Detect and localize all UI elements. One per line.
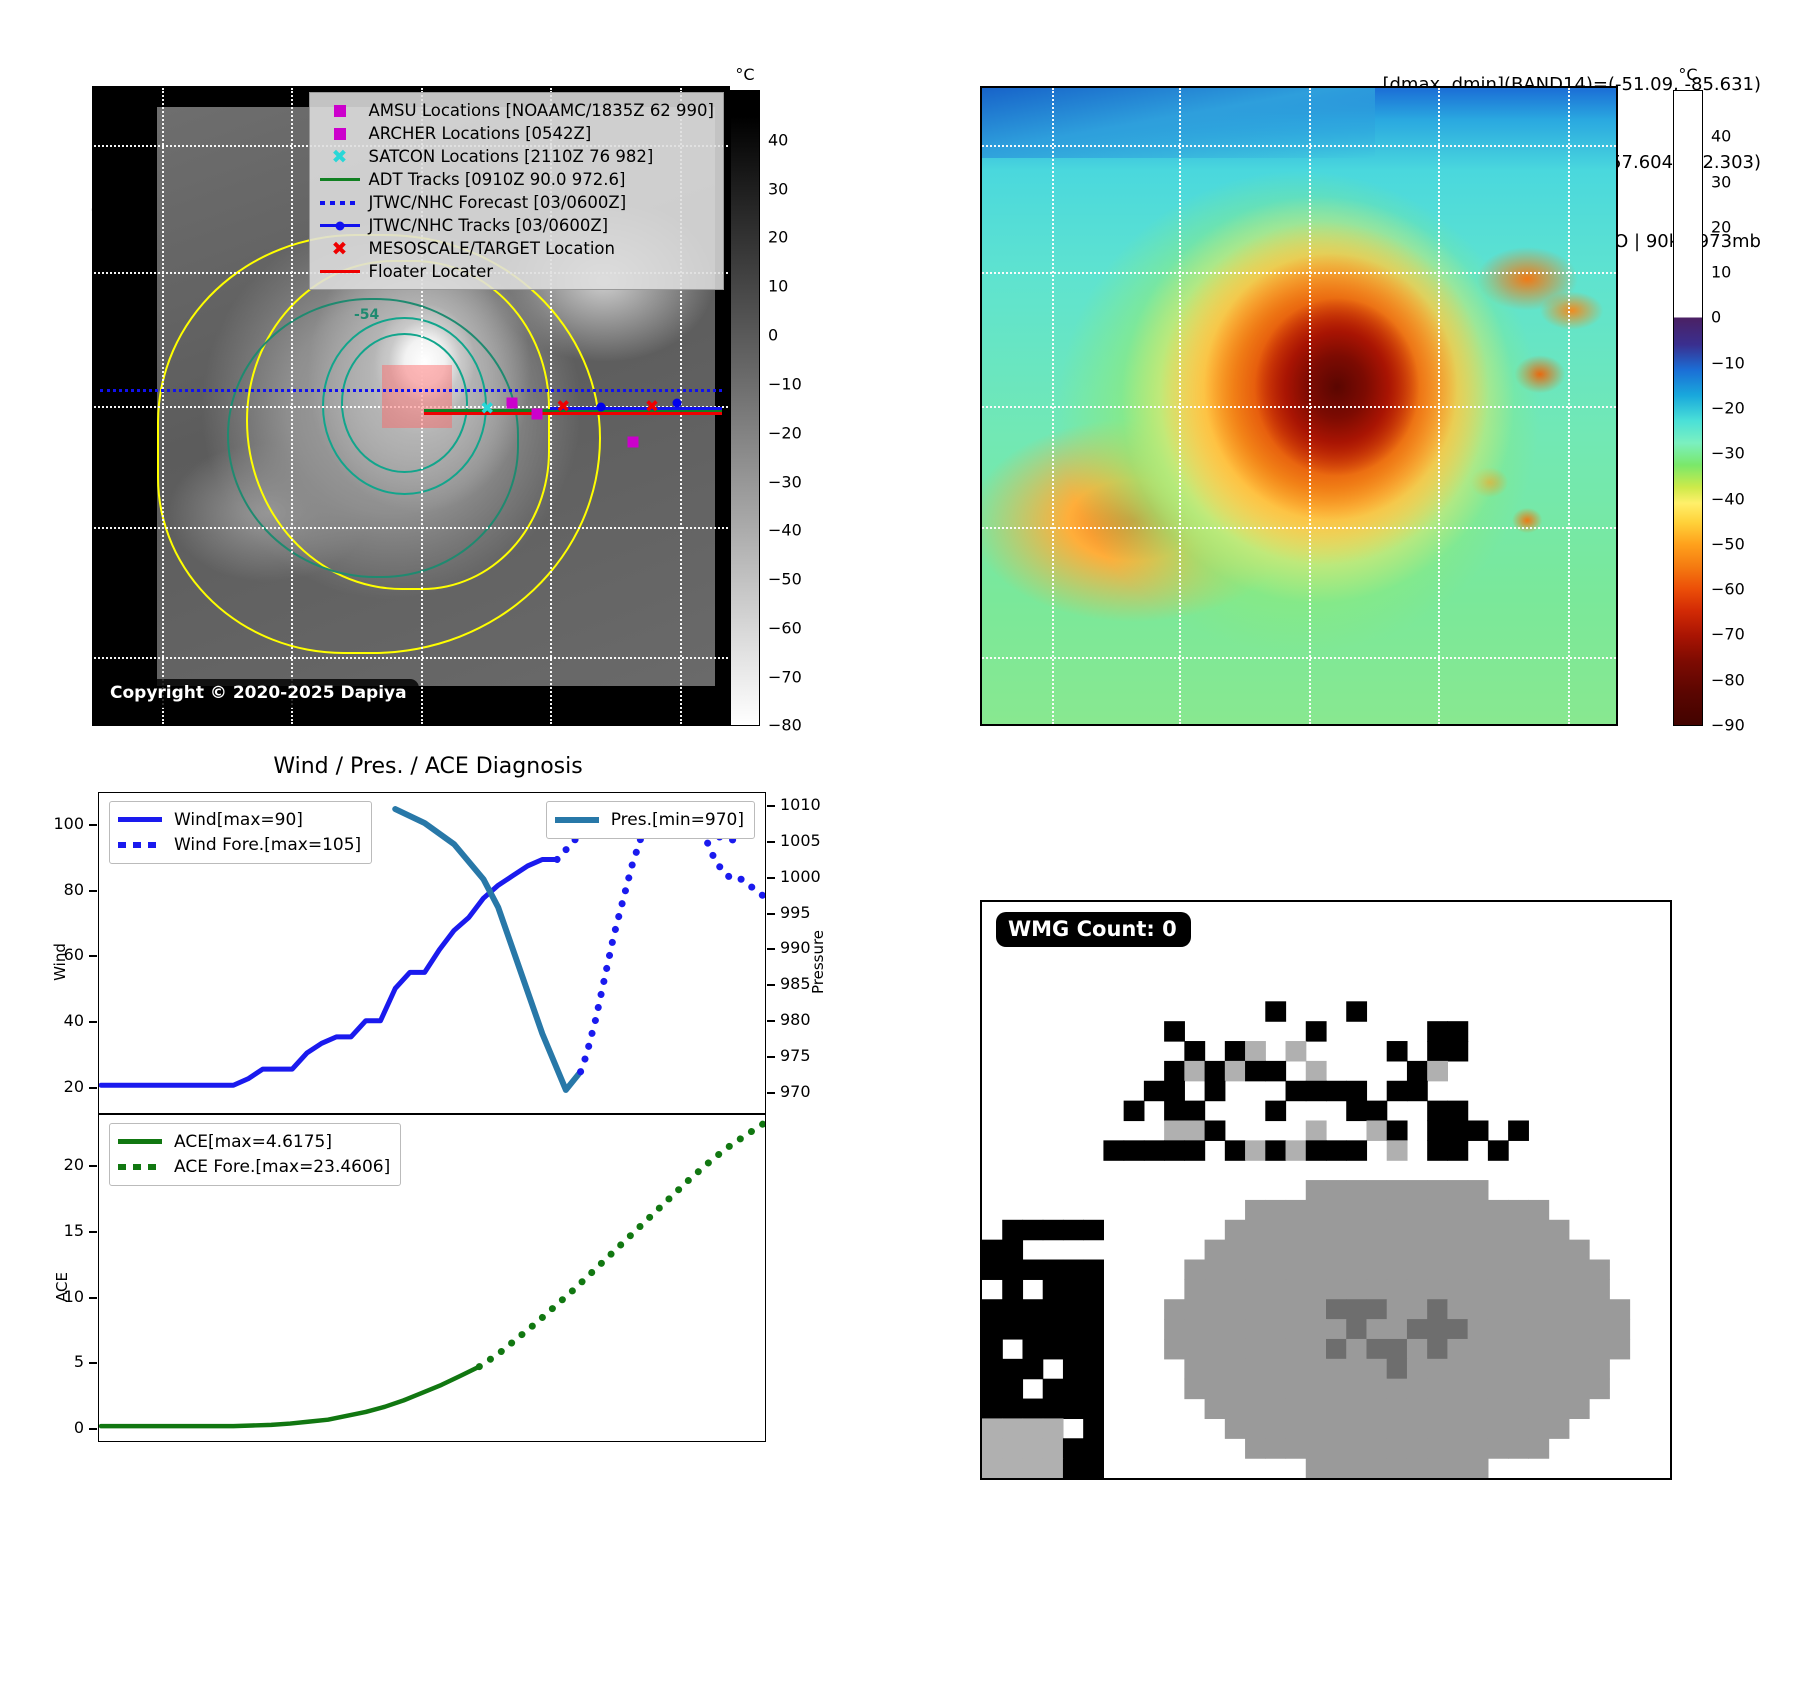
axis-tick-label: 15: [0, 1221, 84, 1240]
x-cyan-icon: ✖: [317, 150, 363, 164]
wmg-cell: [1063, 1299, 1084, 1319]
wmg-cell: [982, 1379, 1003, 1399]
wmg-cell: [1286, 1081, 1307, 1101]
wmg-cell: [1569, 1339, 1590, 1359]
wmg-cell: [1427, 1200, 1448, 1220]
wmg-cell: [1549, 1379, 1570, 1399]
wmg-cell: [1286, 1319, 1307, 1339]
wmg-cell: [1265, 1140, 1286, 1160]
wmg-panel[interactable]: WMG Count: 0: [980, 900, 1672, 1480]
wmg-cell: [1427, 1260, 1448, 1280]
colorbar-tick: −20: [768, 423, 802, 442]
contour-value-label: -54: [354, 307, 379, 323]
wmg-cell: [1447, 1200, 1468, 1220]
wmg-cell: [1225, 1061, 1246, 1081]
colorbar-tick: −50: [1711, 534, 1745, 553]
wmg-cell: [1002, 1240, 1023, 1260]
wmg-cell: [1508, 1120, 1529, 1140]
wmg-cell: [1488, 1438, 1509, 1458]
wmg-cell: [1468, 1299, 1489, 1319]
wmg-cell: [1488, 1220, 1509, 1240]
wmg-cell: [1528, 1379, 1549, 1399]
wmg-cell: [1468, 1458, 1489, 1478]
wmg-cell: [1427, 1180, 1448, 1200]
wmg-cell: [1245, 1339, 1266, 1359]
wmg-cell: [1265, 1061, 1286, 1081]
wmg-cell: [1164, 1339, 1185, 1359]
wmg-cell: [1083, 1379, 1104, 1399]
ace-chart[interactable]: ACE[max=4.6175] ACE Fore.[max=23.4606] A…: [98, 1114, 766, 1442]
wmg-cell: [1164, 1021, 1185, 1041]
wmg-cell: [1447, 1041, 1468, 1061]
wmg-cell: [1286, 1418, 1307, 1438]
wmg-cell: [1488, 1379, 1509, 1399]
wmg-cell: [1427, 1319, 1448, 1339]
wmg-cell: [1286, 1379, 1307, 1399]
wmg-cell: [1569, 1260, 1590, 1280]
wmg-cell: [1549, 1220, 1570, 1240]
wmg-cell: [1083, 1399, 1104, 1419]
wmg-cell: [1366, 1359, 1387, 1379]
wmg-cell: [1265, 1220, 1286, 1240]
wmg-cell: [1245, 1379, 1266, 1399]
wmg-cell: [1245, 1438, 1266, 1458]
axis-tick-label: 5: [0, 1352, 84, 1371]
wmg-cell: [1447, 1359, 1468, 1379]
wmg-cell: [1387, 1260, 1408, 1280]
wmg-cell: [1366, 1418, 1387, 1438]
wmg-cell: [1447, 1379, 1468, 1399]
wmg-cell: [1468, 1319, 1489, 1339]
wmg-cell: [982, 1438, 1003, 1458]
wmg-cell: [1306, 1299, 1327, 1319]
axis-tick-label: 970: [780, 1082, 811, 1101]
wmg-cell: [1407, 1260, 1428, 1280]
wind-pressure-chart[interactable]: Wind[max=90] Wind Fore.[max=105] Pres.[m…: [98, 792, 766, 1114]
axis-tick-label: 40: [0, 1011, 84, 1030]
wmg-cell: [1528, 1399, 1549, 1419]
wmg-cell: [1366, 1240, 1387, 1260]
wmg-cell: [1549, 1418, 1570, 1438]
wmg-cell: [1528, 1200, 1549, 1220]
wmg-cell: [1245, 1418, 1266, 1438]
wmg-cell: [1387, 1319, 1408, 1339]
legend-label: Floater Locater: [369, 262, 494, 281]
wmg-cell: [1346, 1418, 1367, 1438]
wmg-cell: [1326, 1220, 1347, 1240]
wmg-cell: [1164, 1061, 1185, 1081]
jtwc-nhc-track: [550, 407, 721, 410]
wmg-cell: [1549, 1299, 1570, 1319]
wmg-cell: [1488, 1240, 1509, 1260]
wmg-cell: [1205, 1299, 1226, 1319]
jtwc-track-point: [597, 402, 606, 411]
colorbar-tick: −70: [768, 667, 802, 686]
wmg-cell: [1306, 1438, 1327, 1458]
wmg-cell: [1528, 1279, 1549, 1299]
wmg-cell: [1306, 1399, 1327, 1419]
wmg-cell: [1002, 1220, 1023, 1240]
axis-tick-mark: [89, 1297, 97, 1299]
wmg-cell: [1407, 1240, 1428, 1260]
wmg-cell: [1184, 1061, 1205, 1081]
wmg-cell: [1083, 1220, 1104, 1240]
legend-row: ACE Fore.[max=23.4606]: [118, 1154, 390, 1179]
wmg-cell: [1528, 1438, 1549, 1458]
wmg-cell: [1306, 1279, 1327, 1299]
wmg-cell: [1387, 1339, 1408, 1359]
colorbar-tick: −30: [768, 472, 802, 491]
axis-tick-label: 80: [0, 880, 84, 899]
axis-tick-mark: [767, 1092, 775, 1094]
ir-image: -54 ✖ ✖ ✖ AMSU Locations [NOA: [94, 88, 728, 724]
ir-panel-legend: AMSU Locations [NOAAMC/1835Z 62 990] ARC…: [309, 92, 725, 290]
colorbar-tick: −30: [1711, 444, 1745, 463]
wmg-cell: [1508, 1359, 1529, 1379]
axis-tick-label: 10: [0, 1287, 84, 1306]
wmg-cell: [1286, 1359, 1307, 1379]
legend-label: ARCHER Locations [0542Z]: [369, 124, 592, 143]
legend-label: ADT Tracks [0910Z 90.0 972.6]: [369, 170, 626, 189]
legend-label: ACE Fore.[max=23.4606]: [174, 1157, 390, 1177]
wmg-cell: [982, 1260, 1003, 1280]
legend-label: JTWC/NHC Forecast [03/0600Z]: [369, 193, 627, 212]
wmg-cell: [1346, 1001, 1367, 1021]
wmg-cell: [1508, 1279, 1529, 1299]
wmg-cell: [1427, 1379, 1448, 1399]
wmg-cell: [1184, 1279, 1205, 1299]
line-dot-blue-icon: [317, 224, 363, 228]
wmg-cell: [1164, 1120, 1185, 1140]
wmg-cell: [1447, 1101, 1468, 1121]
wmg-cell: [1387, 1379, 1408, 1399]
wmg-cell: [1205, 1359, 1226, 1379]
wmg-cell: [1124, 1101, 1145, 1121]
colorbar-tick: −10: [1711, 353, 1745, 372]
colorbar-tick: −70: [1711, 625, 1745, 644]
axis-tick-label: 985: [780, 974, 811, 993]
wmg-cell: [1326, 1458, 1347, 1478]
wmg-cell: [1407, 1359, 1428, 1379]
wmg-cell: [982, 1359, 1003, 1379]
colorbar-tick: 40: [1711, 127, 1731, 146]
wmg-cell: [1549, 1279, 1570, 1299]
wmg-cell: [1063, 1339, 1084, 1359]
wmg-cell: [1427, 1101, 1448, 1121]
wmg-cell: [1326, 1399, 1347, 1419]
wmg-cell: [1407, 1061, 1428, 1081]
wmg-cell: [1326, 1140, 1347, 1160]
wmg-cell: [1407, 1279, 1428, 1299]
axis-tick-mark: [767, 805, 775, 807]
wmg-cell: [982, 1399, 1003, 1419]
wmg-cell: [1083, 1299, 1104, 1319]
wmg-cell: [1609, 1319, 1630, 1339]
wmg-cell: [1205, 1379, 1226, 1399]
wmg-cell: [1508, 1220, 1529, 1240]
wmg-cell: [1225, 1220, 1246, 1240]
wmg-cell: [1184, 1101, 1205, 1121]
colorbar-tick: 0: [768, 326, 778, 345]
wmg-cell: [1002, 1299, 1023, 1319]
wmg-cell: [1225, 1339, 1246, 1359]
wmg-cell: [1083, 1339, 1104, 1359]
wmg-cell: [1205, 1279, 1226, 1299]
wmg-cell: [1508, 1399, 1529, 1419]
wmg-cell: [1407, 1220, 1428, 1240]
wmg-cell: [1387, 1041, 1408, 1061]
wmg-cell: [1549, 1260, 1570, 1280]
wmg-cell: [1488, 1200, 1509, 1220]
wmg-cell: [1245, 1240, 1266, 1260]
wmg-cell: [1447, 1021, 1468, 1041]
awv-satellite-panel[interactable]: 18°N 16°N 14°N 12°N 10°N 134°W 132°W 130…: [980, 86, 1618, 726]
wmg-cell: [1043, 1319, 1064, 1339]
wmg-cell: [1346, 1260, 1367, 1280]
axis-tick-mark: [767, 1056, 775, 1058]
wmg-cell: [1346, 1359, 1367, 1379]
wmg-cell: [1043, 1458, 1064, 1478]
wmg-cell: [1184, 1339, 1205, 1359]
wmg-cell: [1306, 1339, 1327, 1359]
colorbar-tick: −60: [768, 618, 802, 637]
axis-tick-label: 1000: [780, 867, 821, 886]
axis-tick-label: 990: [780, 938, 811, 957]
wmg-cell: [1205, 1339, 1226, 1359]
wmg-cell: [1366, 1279, 1387, 1299]
wmg-cell: [1306, 1379, 1327, 1399]
wmg-cell: [1245, 1279, 1266, 1299]
wmg-cell: [1205, 1319, 1226, 1339]
mesoscale-target-marker: ✖: [645, 400, 659, 414]
wmg-cell: [1346, 1438, 1367, 1458]
wmg-cell: [1468, 1200, 1489, 1220]
solid-line-icon: [118, 817, 166, 822]
wmg-cell: [1346, 1339, 1367, 1359]
wmg-cell: [1427, 1041, 1448, 1061]
colorbar-tick: −50: [768, 570, 802, 589]
wmg-cell: [1265, 1399, 1286, 1419]
wmg-cell: [1447, 1140, 1468, 1160]
colorbar-tick: 30: [1711, 172, 1731, 191]
solid-line-icon: [118, 1139, 166, 1144]
dotted-line-icon: [118, 1164, 166, 1170]
wmg-cell: [1043, 1379, 1064, 1399]
wmg-cell: [1286, 1399, 1307, 1419]
wmg-cell: [1245, 1220, 1266, 1240]
wmg-cell: [1366, 1180, 1387, 1200]
wmg-cell: [1063, 1399, 1084, 1419]
mesoscale-target-marker: ✖: [556, 400, 570, 414]
wmg-cell: [1528, 1220, 1549, 1240]
ir-colorbar: °C 40 30 20 10 0 −10 −20 −30 −40 −50 −60…: [730, 90, 760, 726]
grid-line-horizontal: [982, 272, 1616, 274]
wmg-cell: [1002, 1418, 1023, 1438]
wmg-cell: [1346, 1279, 1367, 1299]
wmg-cell: [1286, 1438, 1307, 1458]
wmg-cell: [1184, 1319, 1205, 1339]
square-magenta-icon: [317, 128, 363, 140]
grid-line-horizontal: [982, 406, 1616, 408]
pressure-legend: Pres.[min=970]: [546, 801, 755, 839]
wmg-cell: [1225, 1418, 1246, 1438]
wmg-cell: [1407, 1458, 1428, 1478]
wmg-cell: [1468, 1379, 1489, 1399]
wmg-cell: [1286, 1240, 1307, 1260]
x-red-icon: ✖: [317, 242, 363, 256]
ace-legend: ACE[max=4.6175] ACE Fore.[max=23.4606]: [109, 1123, 401, 1186]
wmg-cell: [1265, 1418, 1286, 1438]
wmg-cell: [1346, 1081, 1367, 1101]
wmg-cell: [982, 1458, 1003, 1478]
wmg-cell: [1528, 1319, 1549, 1339]
wmg-cell: [1306, 1200, 1327, 1220]
wmg-cell: [1022, 1418, 1043, 1438]
wmg-cell: [1225, 1379, 1246, 1399]
wmg-cell: [1407, 1200, 1428, 1220]
wmg-cell: [1164, 1101, 1185, 1121]
ir-satellite-panel[interactable]: -54 ✖ ✖ ✖ AMSU Locations [NOA: [92, 86, 730, 726]
wmg-cell: [1447, 1399, 1468, 1419]
wmg-cell: [1265, 1200, 1286, 1220]
satcon-location-marker: ✖: [480, 402, 494, 416]
wmg-cell: [1427, 1061, 1448, 1081]
wmg-cell: [1286, 1339, 1307, 1359]
wmg-cell: [1306, 1120, 1327, 1140]
wmg-cell: [1609, 1339, 1630, 1359]
wmg-cell: [1488, 1319, 1509, 1339]
axis-tick-mark: [89, 1362, 97, 1364]
wmg-cell: [1346, 1399, 1367, 1419]
wmg-count-badge: WMG Count: 0: [996, 912, 1191, 947]
wmg-cell: [1366, 1438, 1387, 1458]
wmg-cell: [1346, 1101, 1367, 1121]
wmg-cell: [1022, 1299, 1043, 1319]
axis-tick-label: 0: [0, 1418, 84, 1437]
wmg-cell: [1508, 1319, 1529, 1339]
wmg-cell: [1306, 1319, 1327, 1339]
wmg-cell: [1063, 1319, 1084, 1339]
wmg-cell: [1265, 1260, 1286, 1280]
wmg-cell: [1205, 1061, 1226, 1081]
wmg-cell: [1326, 1081, 1347, 1101]
wmg-cell: [1286, 1279, 1307, 1299]
axis-tick-label: 60: [0, 945, 84, 964]
wmg-cell: [1366, 1379, 1387, 1399]
wmg-grid: [982, 902, 1670, 1478]
legend-label: Wind[max=90]: [174, 810, 303, 830]
copyright-badge: Copyright © 2020-2025 Dapiya: [100, 679, 419, 708]
wmg-cell: [1427, 1359, 1448, 1379]
wmg-cell: [1184, 1379, 1205, 1399]
wmg-cell: [1306, 1260, 1327, 1280]
wmg-cell: [1427, 1120, 1448, 1140]
wmg-cell: [1468, 1339, 1489, 1359]
wmg-cell: [1306, 1140, 1327, 1160]
wmg-cell: [1326, 1379, 1347, 1399]
wmg-cell: [1326, 1299, 1347, 1319]
wmg-cell: [1407, 1339, 1428, 1359]
wmg-cell: [1387, 1438, 1408, 1458]
wmg-cell: [1043, 1339, 1064, 1359]
colorbar-tick: −80: [1711, 670, 1745, 689]
wmg-cell: [1387, 1458, 1408, 1478]
wmg-cell: [1569, 1399, 1590, 1419]
wmg-cell: [1063, 1260, 1084, 1280]
wmg-cell: [1245, 1319, 1266, 1339]
wmg-cell: [1407, 1379, 1428, 1399]
wmg-cell: [1366, 1319, 1387, 1339]
wmg-cell: [1002, 1319, 1023, 1339]
grid-line-horizontal: [982, 527, 1616, 529]
wmg-cell: [1063, 1458, 1084, 1478]
wmg-cell: [1366, 1458, 1387, 1478]
axis-tick-label: 100: [0, 814, 84, 833]
floater-locater-track: [424, 412, 722, 415]
wmg-cell: [1184, 1041, 1205, 1061]
wmg-cell: [1488, 1418, 1509, 1438]
wmg-cell: [1589, 1319, 1610, 1339]
wmg-cell: [1225, 1299, 1246, 1319]
legend-row: AMSU Locations [NOAAMC/1835Z 62 990]: [317, 99, 715, 122]
wmg-cell: [1427, 1418, 1448, 1438]
wmg-cell: [1225, 1359, 1246, 1379]
wmg-cell: [1043, 1220, 1064, 1240]
legend-row: ✖ MESOSCALE/TARGET Location: [317, 237, 715, 260]
axis-tick-label: 975: [780, 1046, 811, 1065]
square-magenta-icon: [317, 105, 363, 117]
wmg-cell: [1063, 1438, 1084, 1458]
colorbar-tick: −20: [1711, 399, 1745, 418]
axis-tick-mark: [89, 890, 97, 892]
wmg-cell: [1225, 1140, 1246, 1160]
dotted-line-icon: [118, 842, 166, 848]
wmg-cell: [1286, 1260, 1307, 1280]
wmg-cell: [1063, 1359, 1084, 1379]
wmg-cell: [1002, 1438, 1023, 1458]
wmg-cell: [1488, 1359, 1509, 1379]
grid-line-horizontal: [982, 145, 1616, 147]
wmg-cell: [1205, 1120, 1226, 1140]
wmg-cell: [1427, 1299, 1448, 1319]
grid-line-horizontal: [982, 657, 1616, 659]
wmg-cell: [1569, 1379, 1590, 1399]
diagnosis-title: Wind / Pres. / ACE Diagnosis: [92, 754, 764, 779]
wmg-cell: [1245, 1140, 1266, 1160]
wmg-cell: [1366, 1339, 1387, 1359]
wmg-cell: [1184, 1359, 1205, 1379]
wmg-cell: [1589, 1339, 1610, 1359]
wmg-cell: [1407, 1081, 1428, 1101]
wmg-cell: [1164, 1299, 1185, 1319]
wmg-cell: [1427, 1339, 1448, 1359]
wmg-cell: [1265, 1240, 1286, 1260]
wmg-cell: [1589, 1279, 1610, 1299]
wmg-cell: [1063, 1220, 1084, 1240]
wmg-cell: [1225, 1240, 1246, 1260]
wmg-cell: [1326, 1319, 1347, 1339]
pressure-axis-label: Pressure: [809, 930, 827, 994]
wmg-cell: [1346, 1299, 1367, 1319]
colorbar-tick: 40: [768, 130, 788, 149]
wmg-cell: [1366, 1101, 1387, 1121]
wmg-cell: [1083, 1279, 1104, 1299]
wmg-cell: [1488, 1299, 1509, 1319]
wmg-cell: [1427, 1279, 1448, 1299]
line-red-icon: [317, 270, 363, 273]
wmg-cell: [1508, 1379, 1529, 1399]
wmg-cell: [1366, 1260, 1387, 1280]
